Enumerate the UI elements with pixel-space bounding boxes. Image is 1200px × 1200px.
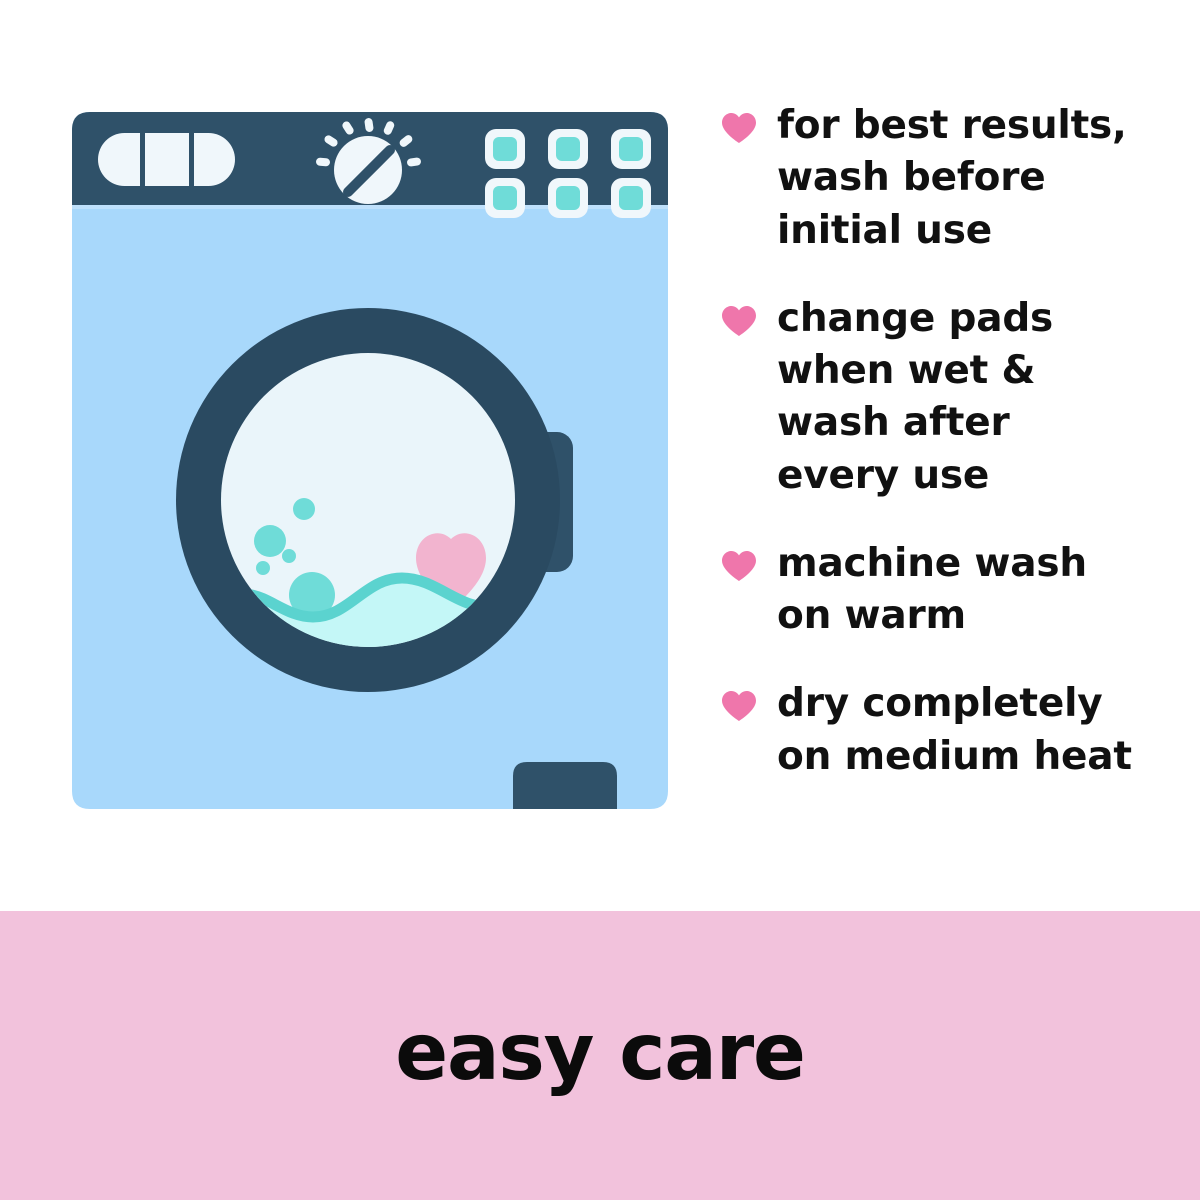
- care-item-text: change pads when wet & wash after every …: [777, 293, 1142, 502]
- care-list-item: dry completely on medium heat: [722, 678, 1142, 783]
- heart-icon: [722, 306, 756, 337]
- care-item-text: for best results, wash before initial us…: [777, 100, 1142, 257]
- control-button[interactable]: [548, 129, 588, 169]
- care-instructions-list: for best results, wash before initial us…: [722, 100, 1142, 819]
- care-list-item: change pads when wet & wash after every …: [722, 293, 1142, 502]
- control-button[interactable]: [611, 129, 651, 169]
- bubble-icon: [293, 498, 315, 520]
- washing-machine-illustration: [72, 112, 668, 809]
- care-item-text: machine wash on warm: [777, 538, 1142, 643]
- care-list-item: for best results, wash before initial us…: [722, 100, 1142, 257]
- bubble-icon: [254, 525, 286, 557]
- washing-machine-svg: [72, 112, 668, 809]
- bubble-icon: [256, 561, 270, 575]
- control-button[interactable]: [548, 178, 588, 218]
- control-button[interactable]: [611, 178, 651, 218]
- heart-icon: [722, 113, 756, 144]
- footer-banner: easy care: [0, 911, 1200, 1200]
- heart-icon: [722, 551, 756, 582]
- display-panel: [98, 133, 235, 186]
- control-button[interactable]: [485, 129, 525, 169]
- display-divider-2: [189, 133, 194, 186]
- footer-title: easy care: [395, 1014, 804, 1098]
- care-list-item: machine wash on warm: [722, 538, 1142, 643]
- content-area: for best results, wash before initial us…: [0, 0, 1200, 911]
- display-pill: [98, 133, 235, 186]
- control-button[interactable]: [485, 178, 525, 218]
- heart-icon: [722, 691, 756, 722]
- bubble-icon: [282, 549, 296, 563]
- care-instructions-page: for best results, wash before initial us…: [0, 0, 1200, 1200]
- care-item-text: dry completely on medium heat: [777, 678, 1142, 783]
- bottom-drawer-tab[interactable]: [513, 762, 617, 809]
- display-divider-1: [140, 133, 145, 186]
